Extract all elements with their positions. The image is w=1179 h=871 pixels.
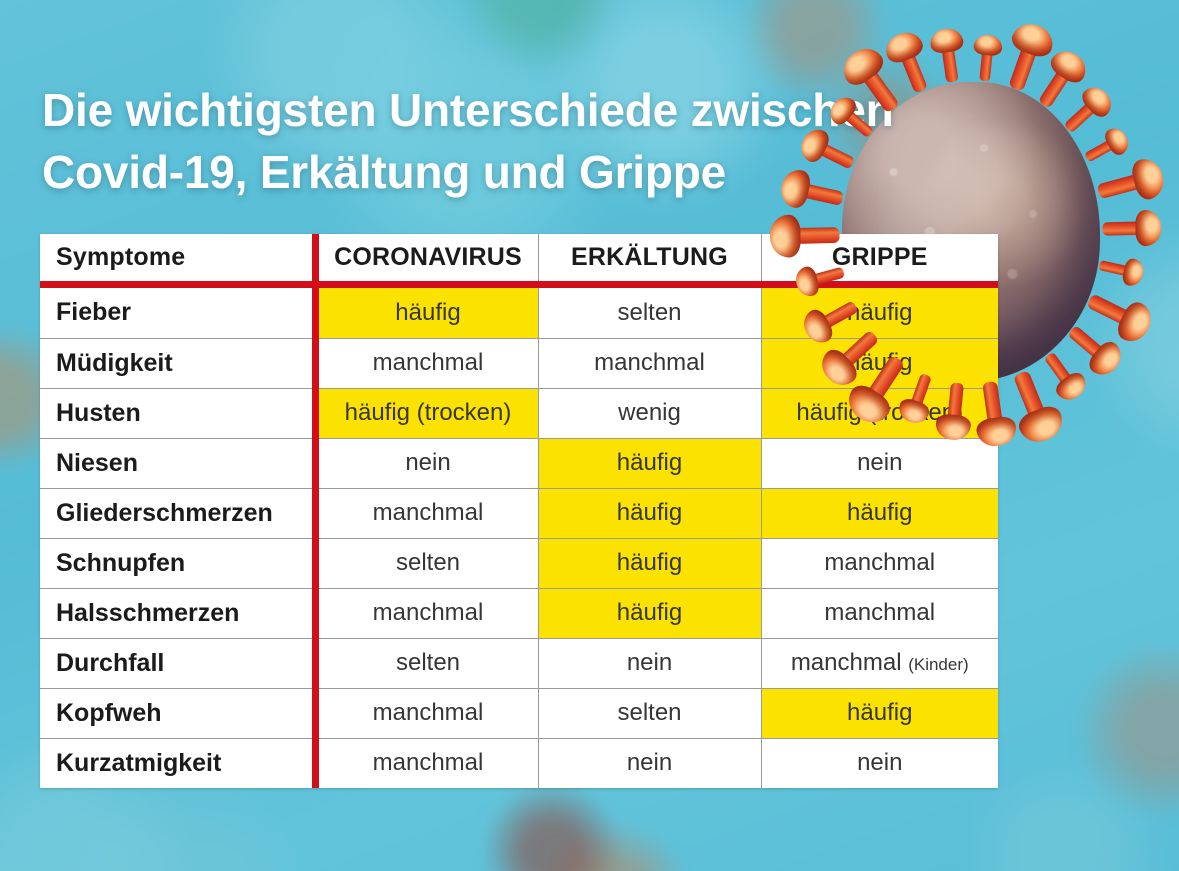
cell-corona: selten	[315, 538, 538, 588]
cell-flu: manchmal (Kinder)	[761, 638, 998, 688]
symptom-label: Kopfweh	[40, 688, 315, 738]
cell-cold-highlighted: häufig	[538, 438, 761, 488]
virus-spike	[1013, 370, 1047, 423]
cell-cold-highlighted: häufig	[538, 538, 761, 588]
symptom-label: Halsschmerzen	[40, 588, 315, 638]
table-row: Gliederschmerzenmanchmalhäufighäufig	[40, 488, 998, 538]
cell-flu: manchmal	[761, 538, 998, 588]
virus-spike	[982, 381, 1003, 428]
cell-flu: nein	[761, 438, 998, 488]
symptom-label: Müdigkeit	[40, 338, 315, 388]
cell-note: (Kinder)	[908, 655, 968, 674]
cell-cold: selten	[538, 288, 761, 338]
virus-spike	[979, 48, 993, 81]
symptom-comparison-table: Symptome CORONAVIRUS ERKÄLTUNG GRIPPE Fi…	[40, 234, 998, 788]
cell-cold: wenig	[538, 388, 761, 438]
header-rule-segment	[538, 281, 761, 288]
comparison-table: Symptome CORONAVIRUS ERKÄLTUNG GRIPPE Fi…	[40, 234, 998, 788]
cell-cold: nein	[538, 638, 761, 688]
page-title-line-1: Die wichtigsten Unterschiede zwischen	[42, 79, 942, 141]
table-row: Halsschmerzenmanchmalhäufigmanchmal	[40, 588, 998, 638]
cell-corona: manchmal	[315, 488, 538, 538]
virus-spike	[1008, 42, 1038, 92]
cell-flu-highlighted: häufig	[761, 288, 998, 338]
header-red-rule	[40, 281, 998, 288]
table-row: Kurzatmigkeitmanchmalneinnein	[40, 738, 998, 788]
cell-corona-highlighted: häufig	[315, 288, 538, 338]
column-header-symptom: Symptome	[40, 234, 315, 281]
cell-corona: manchmal	[315, 338, 538, 388]
cell-corona: manchmal	[315, 588, 538, 638]
cell-flu-highlighted: häufig	[761, 488, 998, 538]
virus-spike	[790, 227, 839, 244]
table-row: Schnupfenseltenhäufigmanchmal	[40, 538, 998, 588]
table-header: Symptome CORONAVIRUS ERKÄLTUNG GRIPPE	[40, 234, 998, 288]
virus-spike	[1084, 139, 1117, 163]
virus-spike	[947, 383, 964, 424]
column-header-coronavirus: CORONAVIRUS	[315, 234, 538, 281]
column-header-erkaeltung: ERKÄLTUNG	[538, 234, 761, 281]
virus-spike	[1096, 173, 1145, 200]
cell-flu: nein	[761, 738, 998, 788]
cell-flu-highlighted: häufig	[761, 688, 998, 738]
table-row: Niesenneinhäufignein	[40, 438, 998, 488]
cell-corona: nein	[315, 438, 538, 488]
symptom-label: Schnupfen	[40, 538, 315, 588]
virus-spike	[1044, 352, 1074, 388]
symptom-label: Gliederschmerzen	[40, 488, 315, 538]
header-row: Symptome CORONAVIRUS ERKÄLTUNG GRIPPE	[40, 234, 998, 281]
cell-cold: manchmal	[538, 338, 761, 388]
table-row: Kopfwehmanchmalseltenhäufig	[40, 688, 998, 738]
cell-cold-highlighted: häufig	[538, 488, 761, 538]
header-rule-segment	[40, 281, 315, 288]
cell-corona-highlighted: häufig (trocken)	[315, 388, 538, 438]
cell-cold-highlighted: häufig	[538, 588, 761, 638]
virus-spike	[1067, 325, 1107, 362]
cell-cold: selten	[538, 688, 761, 738]
cell-corona: manchmal	[315, 688, 538, 738]
cell-cold: nein	[538, 738, 761, 788]
symptom-label: Husten	[40, 388, 315, 438]
cell-value: manchmal	[791, 649, 902, 676]
cell-corona: selten	[315, 638, 538, 688]
cell-corona: manchmal	[315, 738, 538, 788]
virus-spike	[1064, 99, 1099, 133]
table-row: Durchfallseltenneinmanchmal (Kinder)	[40, 638, 998, 688]
symptom-label: Fieber	[40, 288, 315, 338]
cell-flu: manchmal	[761, 588, 998, 638]
virus-spike	[1086, 293, 1134, 327]
virus-spike	[1038, 66, 1073, 109]
infographic-poster: Die wichtigsten Unterschiede zwischen Co…	[0, 0, 1179, 871]
symptom-label: Durchfall	[40, 638, 315, 688]
virus-spike	[941, 43, 958, 82]
symptom-label: Niesen	[40, 438, 315, 488]
symptom-label: Kurzatmigkeit	[40, 738, 315, 788]
virus-spike	[1103, 221, 1144, 235]
header-rule-segment	[315, 281, 538, 288]
virus-spike	[1099, 260, 1132, 277]
